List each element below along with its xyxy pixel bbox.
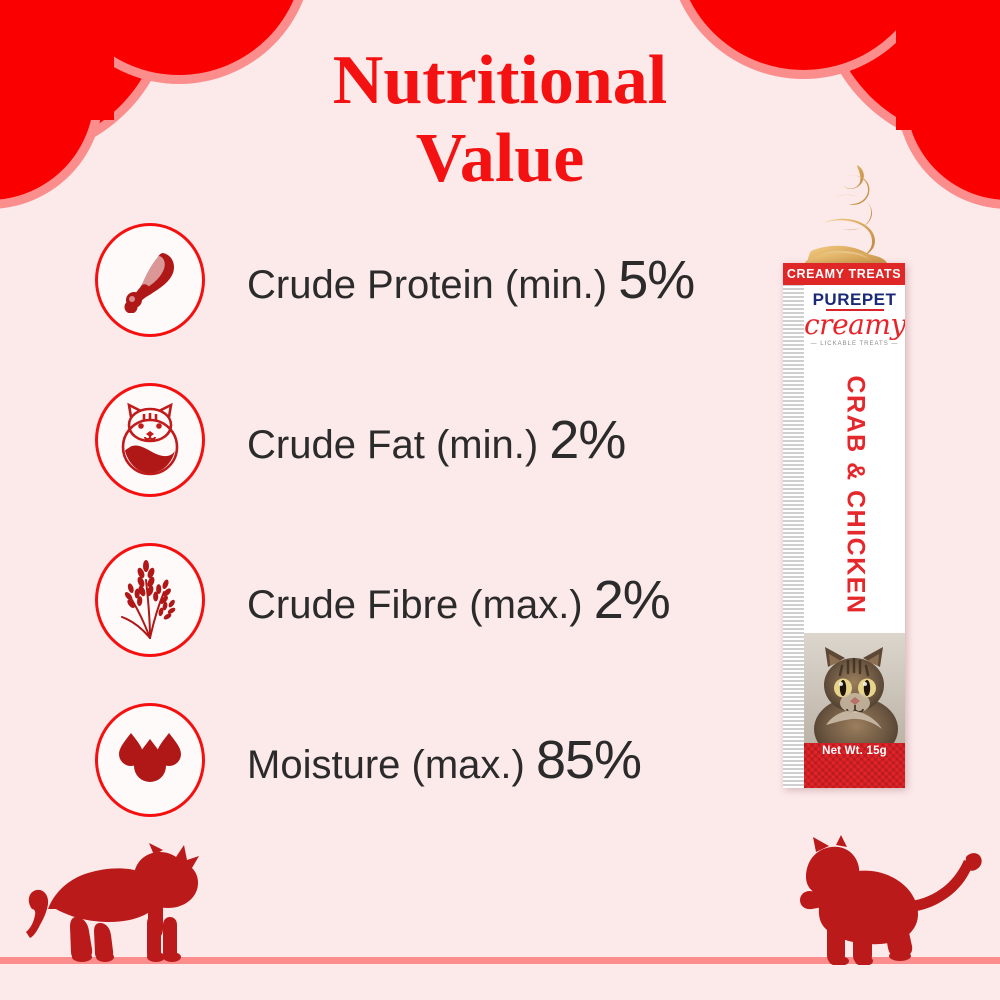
nutrition-text-moisture: Moisture (max.) 85% bbox=[247, 733, 641, 787]
net-weight-label: Net Wt. 15g bbox=[804, 745, 905, 757]
brand-tagline: — LICKABLE TREATS — bbox=[804, 341, 905, 347]
nutrition-row-moisture: Moisture (max.) 85% bbox=[95, 680, 785, 840]
cat-face-icon bbox=[112, 401, 188, 479]
nutrition-value-fibre: 2% bbox=[594, 570, 670, 630]
flavour-label: CRAB & CHICKEN bbox=[840, 375, 869, 614]
nutrition-row-fibre: Crude Fibre (max.) 2% bbox=[95, 520, 785, 680]
nutrition-list: Crude Protein (min.) 5% bbox=[95, 200, 785, 840]
wheat-stalks-icon bbox=[114, 560, 186, 640]
sub-brand-name: creamy bbox=[804, 312, 905, 339]
title-line-1: Nutritional bbox=[333, 42, 667, 119]
nutrition-label-moisture: Moisture (max.) bbox=[247, 743, 525, 787]
cream-swirl-image bbox=[799, 163, 891, 273]
nutrition-label-fat: Crude Fat (min.) bbox=[247, 423, 538, 467]
nutrition-text-fibre: Crude Fibre (max.) 2% bbox=[247, 573, 670, 627]
package-branding: PUREPET creamy — LICKABLE TREATS — bbox=[804, 291, 905, 347]
package-bottom-seal: Net Wt. 15g bbox=[804, 743, 905, 788]
chicken-drumstick-icon bbox=[119, 247, 181, 313]
nutrition-label-fibre: Crude Fibre (max.) bbox=[247, 583, 583, 627]
product-package: CREAMY TREATS PUREPET creamy — LICKABLE … bbox=[783, 163, 905, 788]
package-flavour-area: CRAB & CHICKEN bbox=[804, 355, 905, 635]
cat-standing-silhouette bbox=[26, 843, 251, 968]
icon-badge-protein bbox=[95, 223, 205, 337]
nutrition-row-fat: Crude Fat (min.) 2% bbox=[95, 360, 785, 520]
water-droplets-icon bbox=[116, 729, 184, 791]
nutritional-value-poster: Nutritional Value bbox=[0, 0, 1000, 1000]
cat-playing-silhouette bbox=[788, 835, 988, 970]
package-cat-photo bbox=[804, 633, 905, 743]
nutrition-label-protein: Crude Protein (min.) bbox=[247, 263, 607, 307]
icon-badge-fat bbox=[95, 383, 205, 497]
nutrition-text-fat: Crude Fat (min.) 2% bbox=[247, 413, 625, 467]
icon-badge-moisture bbox=[95, 703, 205, 817]
package-top-band: CREAMY TREATS bbox=[783, 263, 905, 285]
nutrition-value-protein: 5% bbox=[618, 250, 694, 310]
nutrition-row-protein: Crude Protein (min.) 5% bbox=[95, 200, 785, 360]
brand-name: PUREPET bbox=[804, 291, 905, 308]
package-body: CREAMY TREATS PUREPET creamy — LICKABLE … bbox=[783, 263, 905, 788]
nutrition-value-fat: 2% bbox=[549, 410, 625, 470]
icon-badge-fibre bbox=[95, 543, 205, 657]
nutrition-value-moisture: 85% bbox=[536, 730, 641, 790]
nutrition-text-protein: Crude Protein (min.) 5% bbox=[247, 253, 694, 307]
package-texture-strip bbox=[783, 263, 804, 788]
